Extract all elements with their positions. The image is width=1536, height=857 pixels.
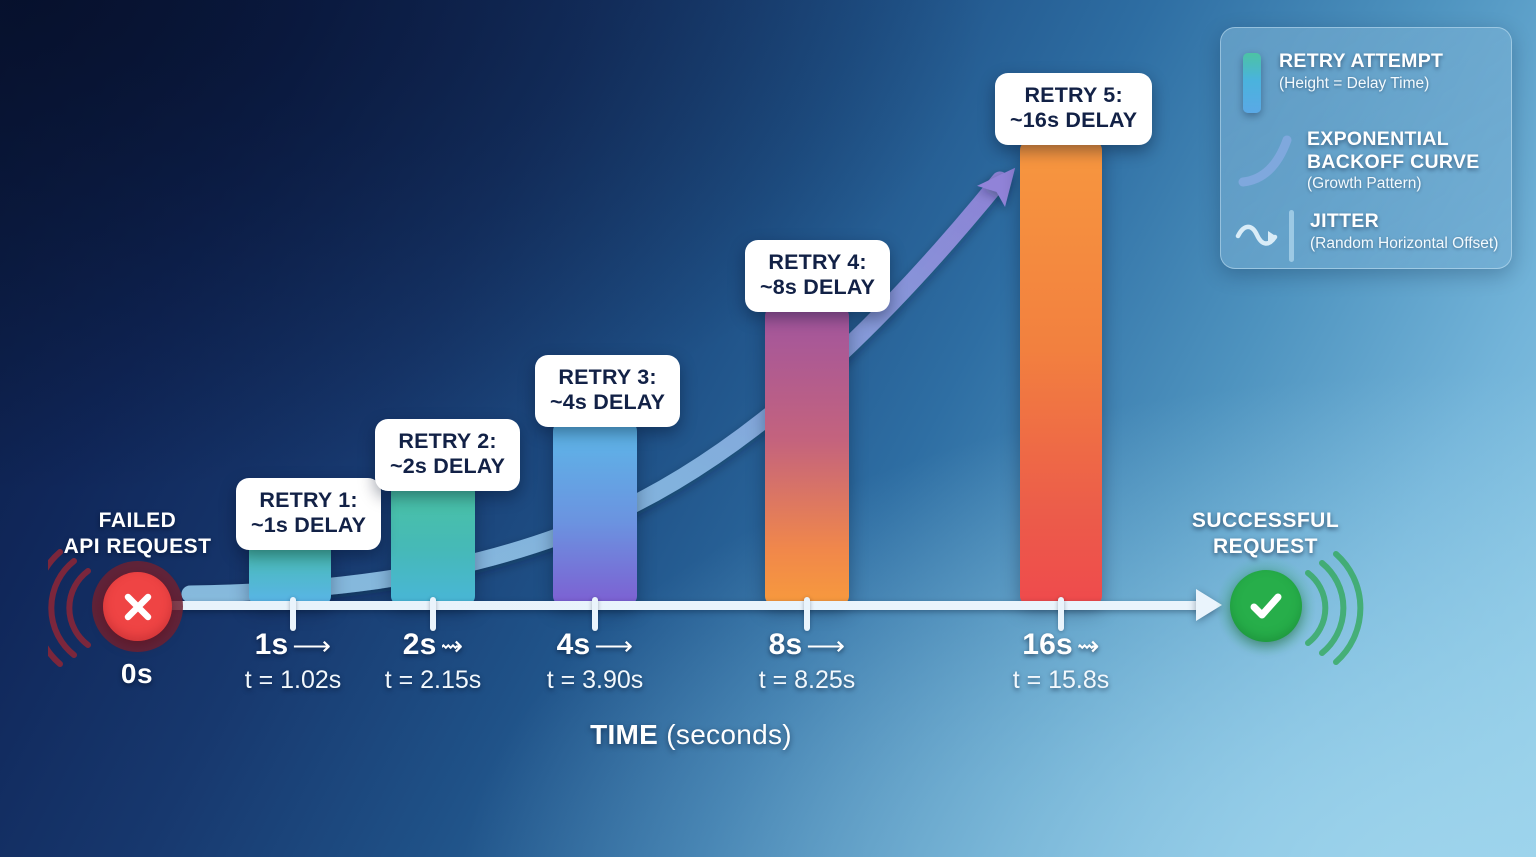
tick-label-group-4: 8s⟶ t = 8.25s — [727, 628, 887, 695]
jitter-squiggle-icon — [1235, 218, 1281, 252]
retry-bar-4 — [765, 307, 849, 605]
jitter-arrow-icon-3: ⟶ — [590, 631, 633, 661]
time-axis-line — [108, 601, 1212, 610]
x-axis-title-bold: TIME — [590, 719, 658, 750]
legend-divider — [1289, 210, 1294, 262]
legend-item-backoff-curve: EXPONENTIAL BACKOFF CURVE (Growth Patter… — [1235, 128, 1480, 194]
legend-jitter-sub: (Random Horizontal Offset) — [1310, 235, 1498, 254]
callout-retry-2-line1: RETRY 2: — [390, 429, 505, 454]
callout-retry-1: RETRY 1: ~1s DELAY — [236, 478, 381, 550]
x-mark-icon — [120, 589, 156, 625]
legend-retry-title: RETRY ATTEMPT — [1279, 50, 1443, 73]
callout-retry-1-line1: RETRY 1: — [251, 488, 366, 513]
check-mark-icon — [1245, 585, 1287, 627]
callout-retry-5-line1: RETRY 5: — [1010, 83, 1137, 108]
callout-retry-4-line2: ~8s DELAY — [760, 275, 875, 300]
retry-bar-5 — [1020, 141, 1102, 605]
tick-label-8s: 8s⟶ — [727, 628, 887, 662]
failed-request-label-line1: FAILED — [55, 508, 220, 534]
successful-request-signal-arcs — [1292, 543, 1412, 673]
tick-mark-4s — [592, 597, 598, 631]
legend-curve-title-line1: EXPONENTIAL — [1307, 128, 1480, 151]
tick-label-group-3: 4s⟶ t = 3.90s — [515, 628, 675, 695]
tick-mark-2s — [430, 597, 436, 631]
legend-curve-sub: (Growth Pattern) — [1307, 175, 1480, 194]
tick-time-5: t = 15.8s — [981, 666, 1141, 695]
legend-item-retry-attempt-text: RETRY ATTEMPT (Height = Delay Time) — [1279, 50, 1443, 93]
legend-item-jitter: JITTER (Random Horizontal Offset) — [1235, 210, 1498, 262]
tick-label-group-2: 2s⇝ t = 2.15s — [353, 628, 513, 695]
x-axis-title-light: (seconds) — [666, 719, 792, 750]
curve-icon — [1235, 130, 1297, 192]
tick-mark-1s — [290, 597, 296, 631]
legend-jitter-title: JITTER — [1310, 210, 1498, 233]
callout-retry-4: RETRY 4: ~8s DELAY — [745, 240, 890, 312]
callout-retry-2-line2: ~2s DELAY — [390, 454, 505, 479]
bar-swatch-icon — [1243, 53, 1261, 113]
retry-bar-2 — [391, 483, 475, 605]
successful-request-label-line1: SUCCESSFUL — [1178, 508, 1353, 534]
retry-bar-3 — [553, 422, 637, 605]
callout-retry-5-line2: ~16s DELAY — [1010, 108, 1137, 133]
jitter-arrow-icon-4: ⟶ — [802, 631, 845, 661]
legend-item-jitter-text: JITTER (Random Horizontal Offset) — [1310, 210, 1498, 253]
callout-retry-2: RETRY 2: ~2s DELAY — [375, 419, 520, 491]
legend-curve-title-line2: BACKOFF CURVE — [1307, 151, 1480, 174]
jitter-squiggle-icon-2: ⇝ — [436, 631, 463, 661]
start-time-label: 0s — [77, 656, 197, 691]
tick-time-2: t = 2.15s — [353, 666, 513, 695]
callout-retry-1-line2: ~1s DELAY — [251, 513, 366, 538]
legend-panel: RETRY ATTEMPT (Height = Delay Time) EXPO… — [1220, 27, 1512, 269]
tick-label-16s: 16s⇝ — [981, 628, 1141, 662]
tick-mark-8s — [804, 597, 810, 631]
callout-retry-5: RETRY 5: ~16s DELAY — [995, 73, 1152, 145]
callout-retry-3-line2: ~4s DELAY — [550, 390, 665, 415]
tick-label-2s: 2s⇝ — [353, 628, 513, 662]
callout-retry-3: RETRY 3: ~4s DELAY — [535, 355, 680, 427]
jitter-squiggle-icon-5: ⇝ — [1073, 631, 1100, 661]
legend-item-retry-attempt: RETRY ATTEMPT (Height = Delay Time) — [1243, 50, 1443, 113]
legend-item-backoff-curve-text: EXPONENTIAL BACKOFF CURVE (Growth Patter… — [1307, 128, 1480, 194]
legend-retry-sub: (Height = Delay Time) — [1279, 75, 1443, 94]
tick-time-3: t = 3.90s — [515, 666, 675, 695]
retry-bar-1 — [249, 541, 331, 605]
tick-label-4s: 4s⟶ — [515, 628, 675, 662]
tick-time-4: t = 8.25s — [727, 666, 887, 695]
failed-request-icon-circle — [103, 572, 172, 641]
callout-retry-3-line1: RETRY 3: — [550, 365, 665, 390]
jitter-arrow-icon-1: ⟶ — [288, 631, 331, 661]
callout-retry-4-line1: RETRY 4: — [760, 250, 875, 275]
tick-label-group-5: 16s⇝ t = 15.8s — [981, 628, 1141, 695]
infographic-canvas: RETRY 1: ~1s DELAY RETRY 2: ~2s DELAY RE… — [0, 0, 1536, 857]
x-axis-title: TIME (seconds) — [0, 719, 1382, 751]
tick-mark-16s — [1058, 597, 1064, 631]
